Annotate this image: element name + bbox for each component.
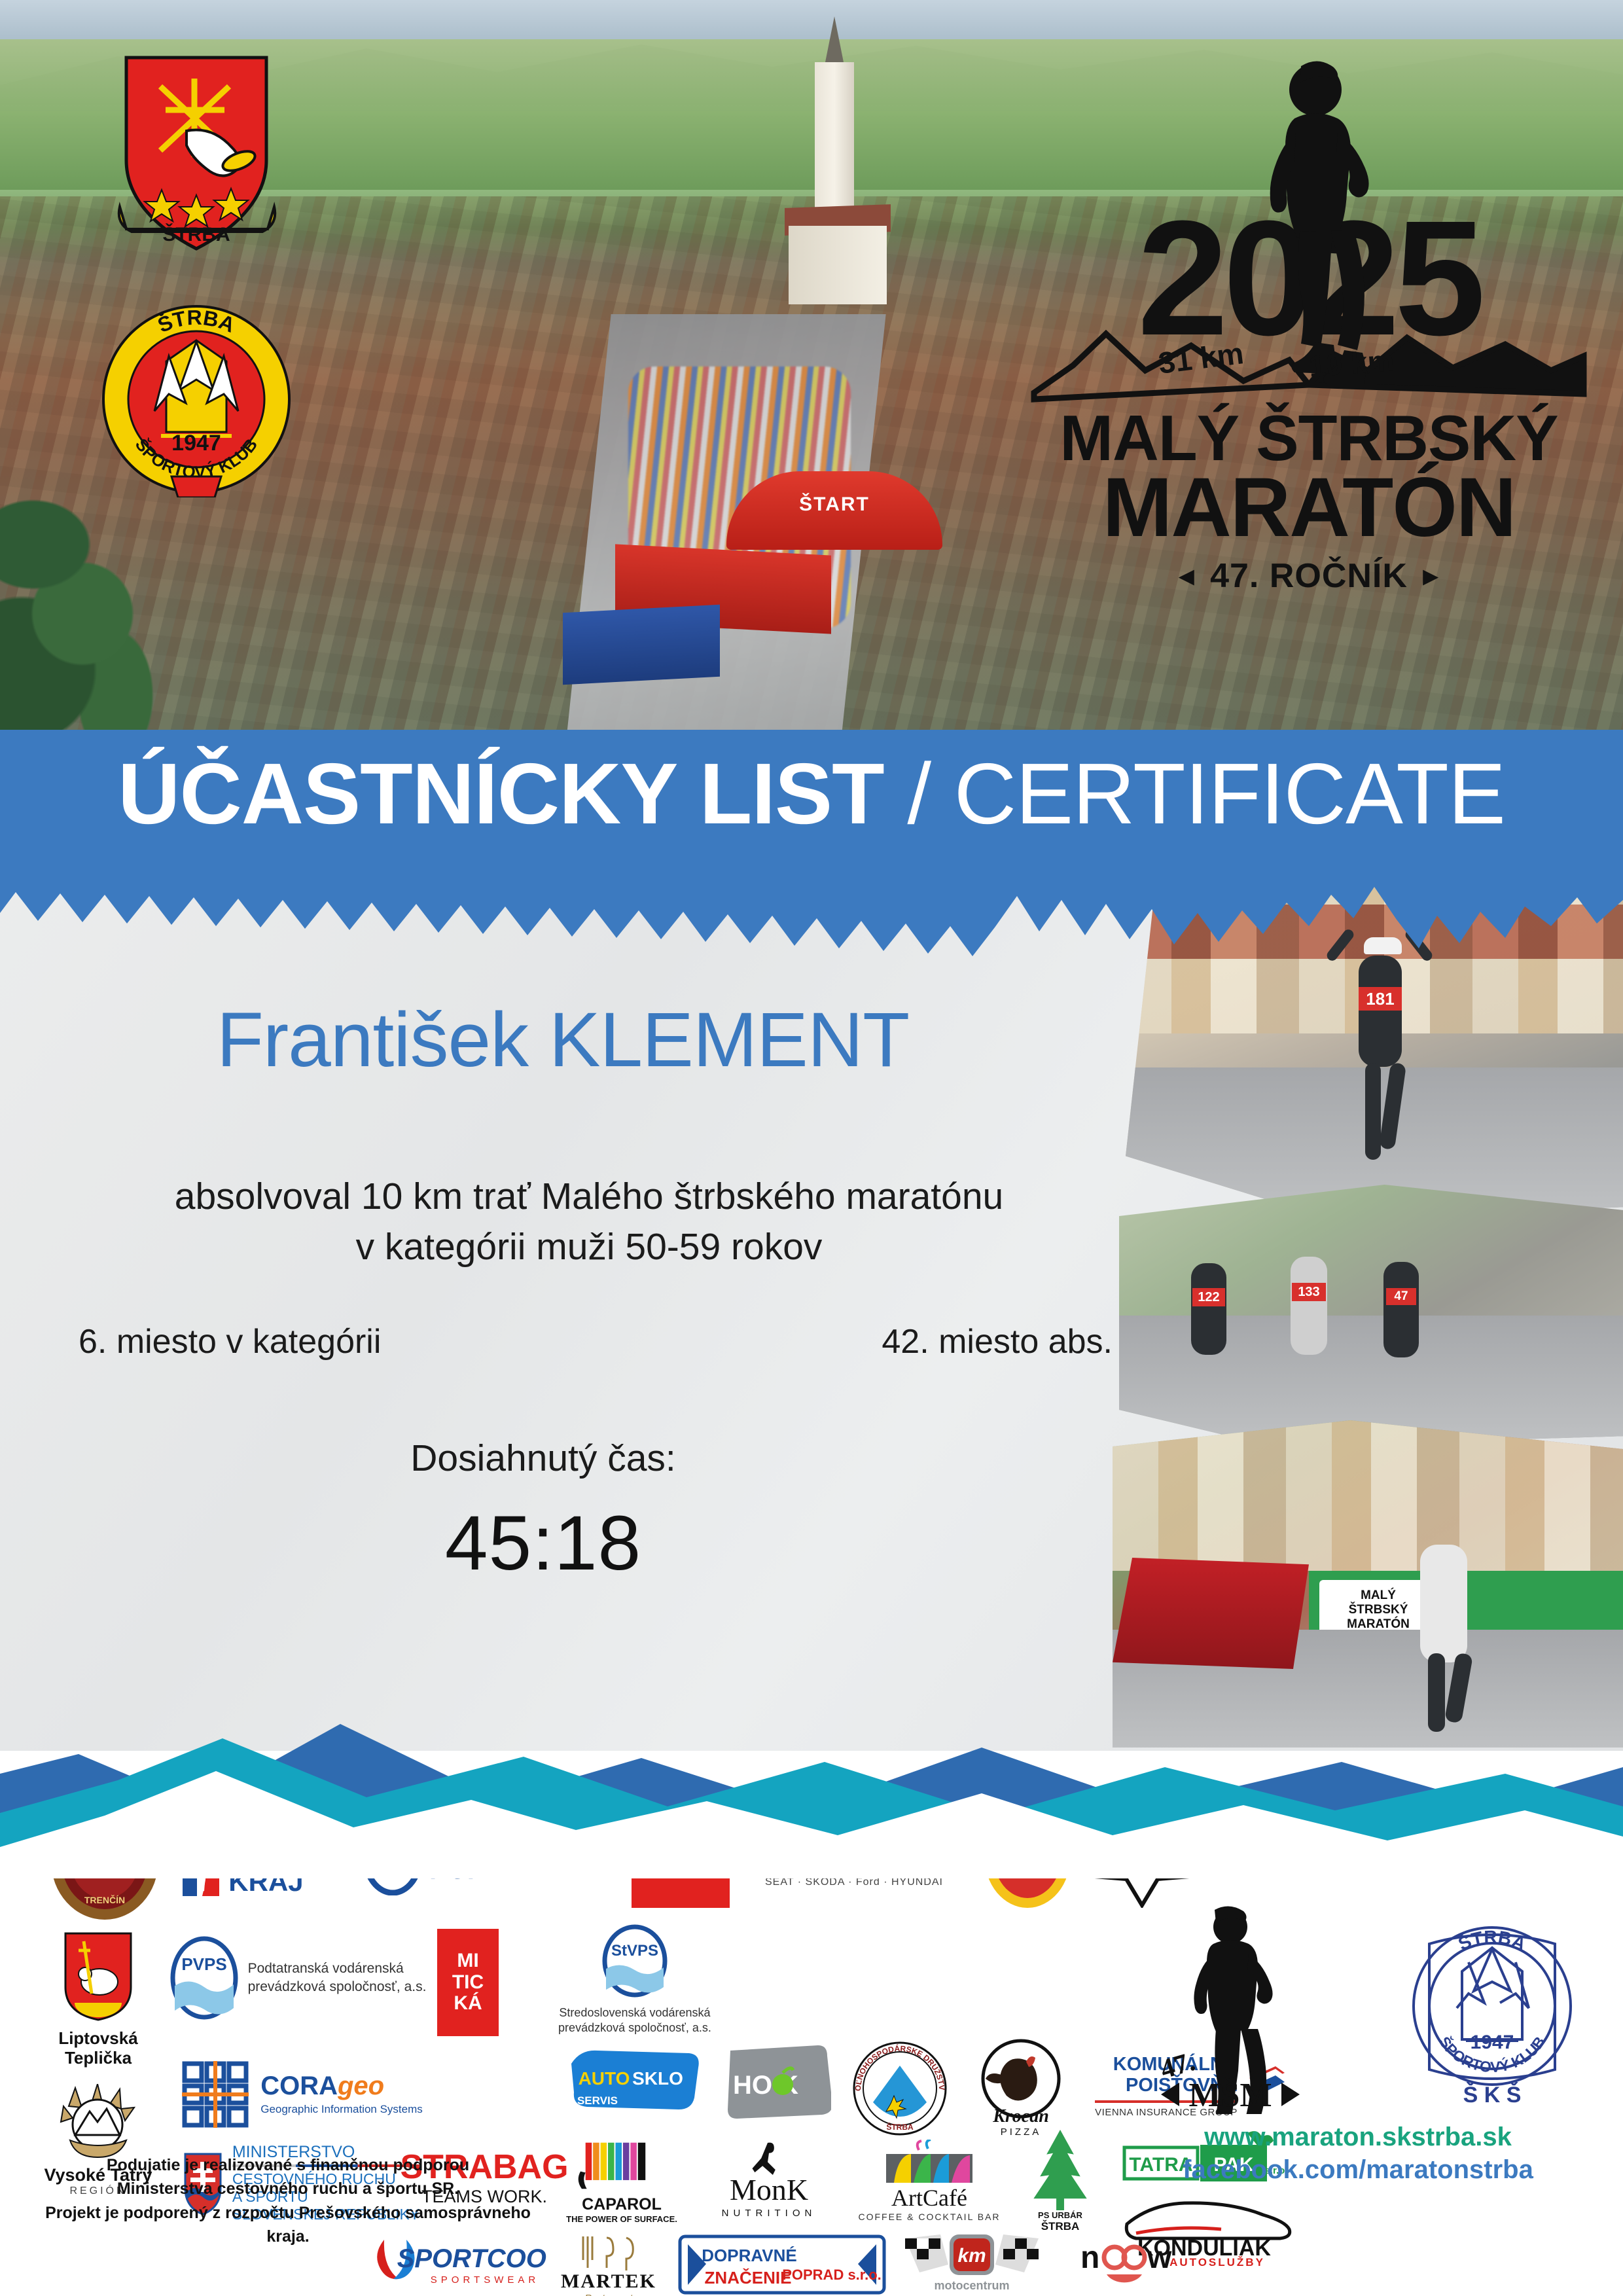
martek-cutlery-icon <box>566 2234 651 2270</box>
pvps-fullname-label: Podtatranská vodárenskáprevádzková spolo… <box>248 1960 427 1997</box>
shield-label: ŠTRBA <box>162 223 230 245</box>
blue-tent <box>563 605 720 685</box>
caparol-sub-label: THE POWER OF SURFACE. <box>566 2214 677 2224</box>
miticka-label: MITICKÁ <box>437 1929 499 2036</box>
sponsor-autosklo[interactable]: AUTO SKLO SERVIS <box>563 2041 707 2119</box>
artcafe-label: ArtCafé <box>891 2185 967 2212</box>
corageo-sub-label: Geographic Information Systems <box>260 2103 423 2116</box>
liptovska-label: Liptovská <box>58 2029 137 2049</box>
mountain-divider-band <box>0 1676 1623 1878</box>
club-year-label: 1947 <box>171 431 221 456</box>
torn-edge-decoration <box>0 880 1623 972</box>
stvps-abbrev-label: StVPS <box>611 1942 658 1960</box>
znacenie-label: ZNAČENIE <box>705 2268 792 2287</box>
sponsor-km-motocentrum[interactable]: km motocentrum <box>897 2225 1047 2296</box>
spruce-tree-icon <box>1024 2128 1096 2210</box>
motocentrum-label: motocentrum <box>934 2279 1009 2292</box>
artcafe-sub-label: COFFEE & COCKTAIL BAR <box>858 2212 1000 2222</box>
photo-group-runners: 122 133 47 <box>1119 1185 1623 1446</box>
sponsor-corageo[interactable]: CORAgeo Geographic Information Systems <box>164 2049 438 2140</box>
banner-title: ÚČASTNÍCKY LIST / CERTIFICATE <box>0 751 1623 837</box>
corageo-grid-icon <box>179 2058 251 2130</box>
photo2-runner-3 <box>1383 1262 1419 1357</box>
msm-47-emblem: 47. MŠM <box>1132 1898 1329 2114</box>
church-nave <box>789 226 887 304</box>
photo2-runner-1 <box>1191 1263 1226 1355</box>
photo1-runner-leg-left <box>1365 1063 1381 1160</box>
monk-label: MonK <box>730 2175 808 2205</box>
martek-label: MARTEK <box>561 2270 656 2293</box>
finish-sign-line1: MALÝ <box>1361 1588 1396 1603</box>
sponsor-pd-strba[interactable]: POĽNOHOSPODÁRSKE DRUŽSTVO ŠTRBA <box>844 2039 955 2138</box>
strba-village-coat-of-arms: ŠTRBA <box>115 52 278 255</box>
disclaimer-line1: Podujatie je realizované s finančnou pod… <box>39 2153 537 2177</box>
liptovska-teplicka-crest-icon <box>62 1931 135 2022</box>
sponsor-monk-nutrition[interactable]: MonK NUTRITION <box>694 2140 844 2219</box>
photo3-houses <box>1113 1420 1623 1571</box>
facebook-link[interactable]: facebook.com/maratonstrba <box>1132 2153 1584 2186</box>
event-edition-label: 47. ROČNÍK <box>1210 557 1408 595</box>
dopravne-label: DOPRAVNÉ <box>702 2246 796 2265</box>
sponsor-potraviny-serfel[interactable]: Potraviny ŠERFEL <box>844 2291 1054 2296</box>
msm-abbrev-label: MŠM <box>1188 2076 1272 2114</box>
sponsor-liptovska-teplicka[interactable]: Liptovská Teplička <box>39 1931 157 2068</box>
caparol-label: CAPAROL <box>582 2195 662 2214</box>
arrow-right-icon: ► <box>1418 562 1444 591</box>
caparol-elephant-icon <box>569 2139 674 2193</box>
pd-strba-logo: POĽNOHOSPODÁRSKE DRUŽSTVO ŠTRBA <box>851 2039 949 2138</box>
sks-stamp-emblem: 1947 ŠTRBA ŠPORTOVÝ KLUB Š K Š <box>1400 1898 1584 2114</box>
sponsor-miticka[interactable]: MITICKÁ <box>432 1927 504 2038</box>
sponsor-hook[interactable]: HO K <box>717 2039 834 2125</box>
photo3-folk-costume <box>1113 1558 1309 1669</box>
hero-aerial-photo: ŠTART ŠTRBA <box>0 0 1623 733</box>
recipient-name: František KLEMENT <box>0 1001 1126 1079</box>
footer-emblems: 47. MŠM 1947 ŠTRB <box>1132 1898 1584 2114</box>
start-arch-label: ŠTART <box>726 493 942 516</box>
distance-short-label: 10 km <box>1308 343 1395 384</box>
stvps-fullname-label: Stredoslovenská vodárenskáprevádzková sp… <box>558 2005 711 2036</box>
dz-poprad-label: POPRAD s.r.o. <box>782 2267 882 2283</box>
krocan-label: Krocan <box>992 2106 1049 2126</box>
event-logo-block: 2025 31 km 10 km MALÝ ŠTRBSKÝ MARATÓN <box>1027 33 1590 609</box>
event-name-line2: MARATÓN <box>1027 466 1590 550</box>
sks-abbrev-label: Š K Š <box>1463 2082 1522 2108</box>
sks-year-label: 1947 <box>1471 2032 1514 2053</box>
sponsor-krocan-pizza[interactable]: Krocan PIZZA <box>962 2037 1080 2138</box>
trencin-label: TRENČÍN <box>84 1894 125 1905</box>
photo3-finisher-torso <box>1420 1545 1467 1662</box>
achievement-line1: absolvoval 10 km trať Malého štrbského m… <box>0 1172 1178 1222</box>
autosluzby-label: AUTOSLUŽBY <box>1169 2256 1265 2267</box>
hook-logo: HO K <box>720 2041 831 2123</box>
sponsor-caparol[interactable]: CAPAROL THE POWER OF SURFACE. <box>556 2139 687 2224</box>
disclaimer-line3: Projekt je podporený z rozpočtu Prešovsk… <box>39 2201 537 2249</box>
sponsor-martek[interactable]: MARTEK Restaurant <box>543 2229 674 2296</box>
pvps-abbrev-label: PVPS <box>181 1954 226 1974</box>
ps-urbar-label: PS URBÁR <box>1038 2210 1082 2220</box>
pd-strba-label: ŠTRBA <box>886 2122 914 2132</box>
finish-sign-line2: ŠTRBSKÝ <box>1349 1603 1408 1617</box>
sponsor-artcafe[interactable]: ArtCafé COFFEE & COCKTAIL BAR <box>857 2135 1001 2227</box>
achievement-description: absolvoval 10 km trať Malého štrbského m… <box>0 1172 1178 1272</box>
photo2-bib-a: 122 <box>1192 1288 1225 1306</box>
photo-collage: 181 122 133 47 MALÝ ŠTRBSKÝ MARATÓN <box>1099 877 1623 1748</box>
km-label: km <box>957 2245 986 2267</box>
vysoke-tatry-sun-icon <box>56 2084 141 2162</box>
sponsor-stvps[interactable]: StVPS Stredoslovenská vodárenskáprevádzk… <box>524 1931 746 2029</box>
km-motocentrum-logo: km motocentrum <box>900 2228 1044 2296</box>
sponsor-dopravne-znacenie[interactable]: DOPRAVNÉ ZNAČENIE POPRAD s.r.o. <box>674 2229 890 2296</box>
time-label: Dosiahnutý čas: <box>0 1437 1086 1480</box>
sponsor-pvps[interactable]: PVPS Podtatranská vodárenskáprevádzková … <box>167 1932 429 2024</box>
sportswear-label: SPORTSWEAR <box>431 2274 539 2286</box>
banner-title-separator: / <box>884 745 954 842</box>
placement-row: 6. miesto v kategórii 42. miesto abs. <box>79 1322 1113 1361</box>
banner-title-en: CERTIFICATE <box>954 745 1505 842</box>
title-banner: ÚČASTNÍCKY LIST / CERTIFICATE <box>0 730 1623 880</box>
certificate-page: ŠTART ŠTRBA <box>0 0 1623 2296</box>
sponsor-noow[interactable]: n w <box>1060 2229 1178 2296</box>
servis-label: SERVIS <box>577 2094 618 2107</box>
martek-sub-label: Restaurant <box>584 2293 632 2296</box>
sponsor-lujan-plus[interactable]: LUJAN Plus s.r.o. <box>661 2292 818 2296</box>
sklo-label: SKLO <box>632 2068 683 2089</box>
church-spire-icon <box>824 16 845 69</box>
noow-w-label: w <box>1147 2240 1172 2275</box>
geo-label: geo <box>338 2072 384 2100</box>
sports-club-strba-emblem: 1947 ŠTRBA ŠPORTOVÝ KLUB <box>98 301 294 497</box>
placement-absolute: 42. miesto abs. <box>882 1322 1113 1361</box>
auto-label: AUTO <box>579 2068 630 2089</box>
noow-logo: n w <box>1063 2234 1175 2296</box>
krocan-pizza-logo: Krocan PIZZA <box>969 2038 1073 2138</box>
time-value: 45:18 <box>0 1499 1086 1588</box>
sportcool-label: SPORTCOOL <box>397 2244 546 2273</box>
stvps-mark-icon: StVPS <box>601 1924 669 1998</box>
cora-label: CORA <box>260 2072 338 2100</box>
website-link[interactable]: www.maraton.skstrba.sk <box>1132 2121 1584 2153</box>
dopravne-znacenie-logo: DOPRAVNÉ ZNAČENIE POPRAD s.r.o. <box>677 2233 887 2296</box>
monk-figure-icon <box>749 2140 789 2175</box>
photo2-bib-c: 47 <box>1386 1288 1416 1305</box>
artcafe-mark-icon <box>883 2140 975 2185</box>
autosklo-logo: AUTO SKLO SERVIS <box>566 2044 704 2116</box>
placement-category: 6. miesto v kategórii <box>79 1322 381 1361</box>
sponsor-ps-urbar-strba[interactable]: PS URBÁR ŠTRBA <box>1001 2128 1119 2233</box>
achievement-line2: v kategórii muži 50-59 rokov <box>0 1222 1178 1272</box>
event-edition: ◄ 47. ROČNÍK ► <box>1027 556 1590 596</box>
photo2-runner-2 <box>1291 1257 1327 1355</box>
photo2-bib-b: 133 <box>1292 1283 1326 1301</box>
banner-title-sk: ÚČASTNÍCKY LIST <box>118 745 884 842</box>
funding-disclaimer: Podujatie je realizované s finančnou pod… <box>39 2153 537 2248</box>
monk-sub-label: NUTRITION <box>722 2208 817 2219</box>
noow-n-label: n <box>1080 2240 1099 2275</box>
church-building <box>795 10 874 304</box>
arrow-left-icon: ◄ <box>1173 562 1200 591</box>
disclaimer-line2: Ministerstva cestovného ruchu a športu S… <box>39 2177 537 2200</box>
contact-links: www.maraton.skstrba.sk facebook.com/mara… <box>1132 2121 1584 2186</box>
teplicka-label: Teplička <box>58 2049 137 2068</box>
pvps-mark-icon: PVPS <box>169 1936 239 2020</box>
photo1-runner-torso <box>1359 956 1402 1067</box>
photo1-bib-number: 181 <box>1359 987 1402 1011</box>
